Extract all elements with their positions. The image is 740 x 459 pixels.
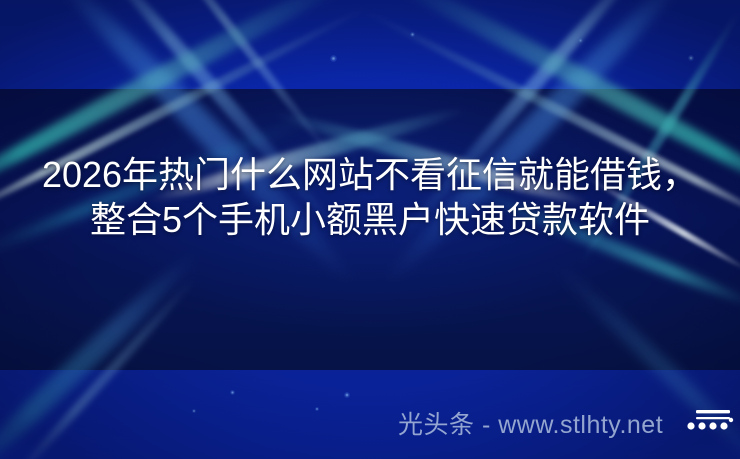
background-band-top [0, 0, 740, 89]
promo-banner: 2026年热门什么网站不看征信就能借钱，整合5个手机小额黑户快速贷款软件 光头条… [0, 0, 740, 459]
headline-text: 2026年热门什么网站不看征信就能借钱，整合5个手机小额黑户快速贷款软件 [0, 152, 740, 242]
watermark-text: 光头条 - www.stlhty.net [398, 410, 663, 440]
